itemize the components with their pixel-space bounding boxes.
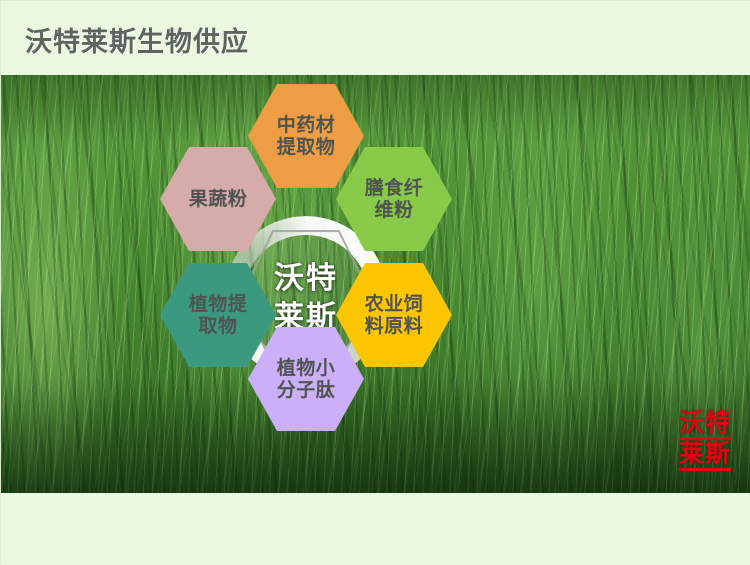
footer-area [1,493,750,565]
brand-watermark-line2: 莱斯 [679,440,731,471]
hex-node-dietary-fiber-line1: 膳食纤 [351,177,437,199]
page-title: 沃特莱斯生物供应 [25,20,249,59]
hex-node-plant-extract-line2: 取物 [175,315,261,337]
brand-watermark-line1: 沃特 [679,409,731,440]
slide-page: 沃特莱斯生物供应 沃特 莱斯 中药材 提取物 [0,0,750,564]
hex-node-feed-material-line1: 农业饲 [351,293,437,315]
hex-node-peptide-line1: 植物小 [263,357,349,379]
hex-node-feed-material-line2: 料原料 [351,315,437,337]
header-bar: 沃特莱斯生物供应 [1,1,750,75]
hexagon-cluster: 沃特 莱斯 中药材 提取物 膳食纤 维粉 [121,75,491,493]
center-brand-line1: 沃特 [260,259,352,298]
hero-photo-stage: 沃特 莱斯 中药材 提取物 膳食纤 维粉 [1,75,750,493]
brand-watermark: 沃特 莱斯 [679,409,731,471]
hex-node-tcm-extract[interactable]: 中药材 提取物 [248,84,364,188]
hex-node-dietary-fiber-line2: 维粉 [351,199,437,221]
hex-node-fruit-veg-powder-line1: 果蔬粉 [175,188,261,210]
hex-node-plant-extract-line1: 植物提 [175,293,261,315]
hex-node-peptide-line2: 分子肽 [263,379,349,401]
hex-node-tcm-extract-line2: 提取物 [263,136,349,158]
hex-node-tcm-extract-line1: 中药材 [263,114,349,136]
